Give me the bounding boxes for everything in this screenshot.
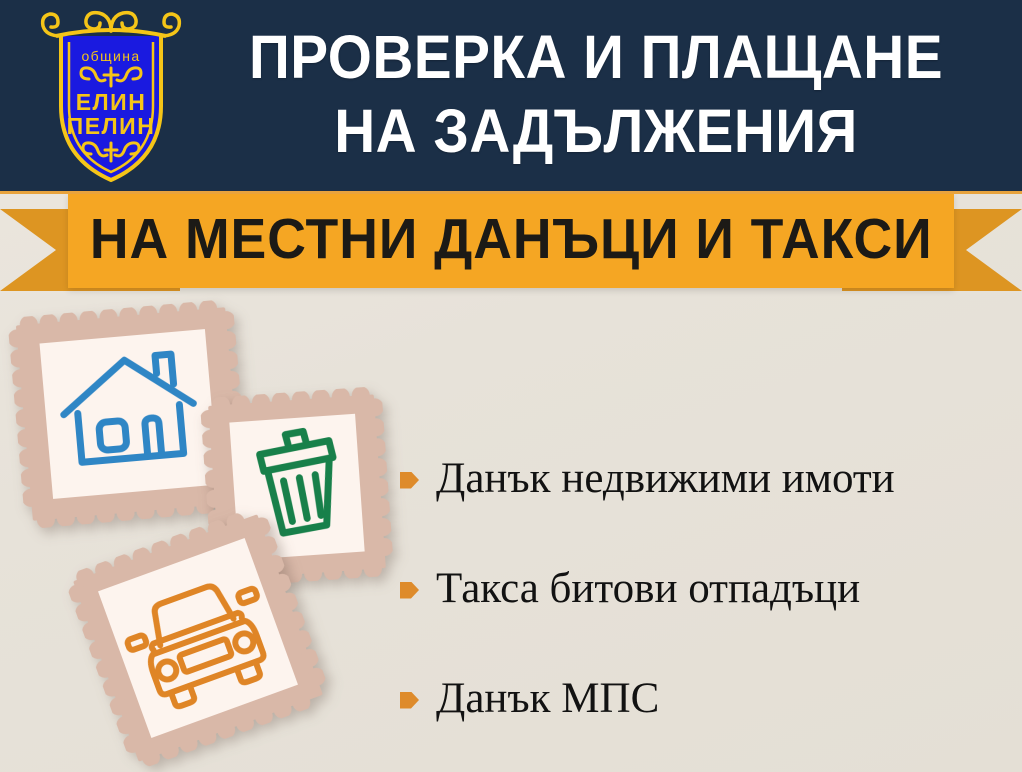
poster-root: община ЕЛИН ПЕЛИН ПРОВЕРКА И ПЛАЩАНЕ НА …: [0, 0, 1022, 772]
tax-list: Данък недвижими имоти Такса битови отпад…: [400, 424, 1015, 754]
list-item[interactable]: Такса битови отпадъци: [400, 534, 1015, 644]
header-title-block: ПРОВЕРКА И ПЛАЩАНЕ НА ЗАДЪЛЖЕНИЯ: [190, 20, 1002, 168]
header-accent-rule: [0, 191, 1022, 194]
list-item[interactable]: Данък МПС: [400, 644, 1015, 754]
tax-list-label: Такса битови отпадъци: [436, 566, 860, 612]
crest-name-line-1: ЕЛИН: [76, 89, 147, 115]
pennant-arrow-icon: [400, 692, 419, 709]
tax-list-label: Данък МПС: [436, 676, 659, 722]
pennant-arrow-icon: [400, 472, 419, 489]
crest-obshtina-label: община: [81, 48, 140, 64]
coat-of-arms-shield-icon: община ЕЛИН ПЕЛИН: [36, 6, 186, 188]
ribbon-banner: НА МЕСТНИ ДАНЪЦИ И ТАКСИ: [0, 193, 1022, 305]
crest-name-line-2: ПЕЛИН: [67, 113, 156, 139]
page-title-line-2: НА ЗАДЪЛЖЕНИЯ: [218, 94, 973, 168]
ribbon-subtitle: НА МЕСТНИ ДАНЪЦИ И ТАКСИ: [90, 210, 933, 271]
tax-list-label: Данък недвижими имоти: [436, 456, 895, 502]
page-title-line-1: ПРОВЕРКА И ПЛАЩАНЕ: [218, 20, 973, 94]
ribbon-band: НА МЕСТНИ ДАНЪЦИ И ТАКСИ: [68, 193, 954, 288]
list-item[interactable]: Данък недвижими имоти: [400, 424, 1015, 534]
pennant-arrow-icon: [400, 582, 419, 599]
